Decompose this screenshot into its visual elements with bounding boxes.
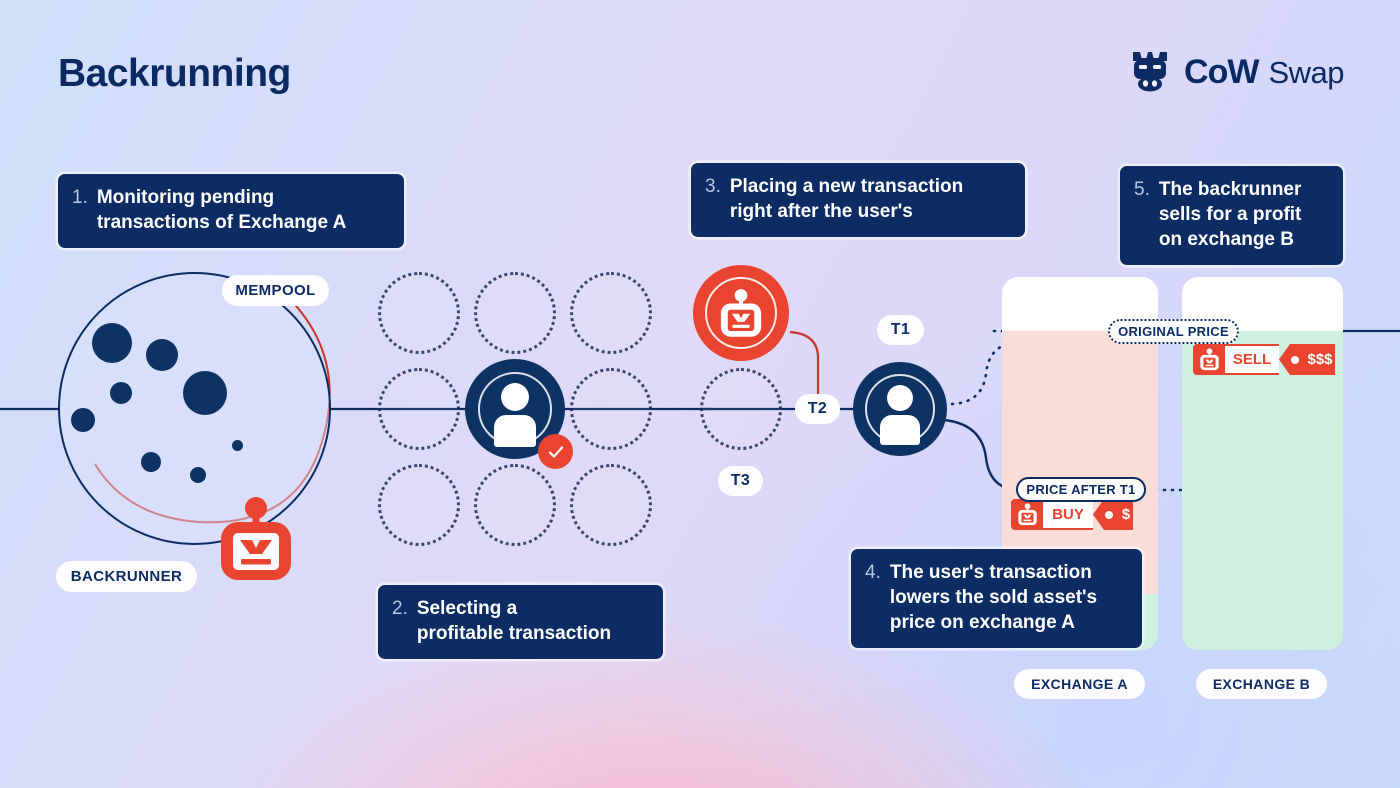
grid-slot[interactable] bbox=[378, 464, 460, 546]
price-after-t1-label: PRICE AFTER T1 bbox=[1016, 477, 1146, 502]
t3-label: T3 bbox=[718, 466, 763, 496]
backrunner-label: BACKRUNNER bbox=[56, 561, 197, 592]
page-title: Backrunning bbox=[58, 52, 291, 96]
step-2-box: 2. Selecting a profitable transaction bbox=[378, 585, 663, 659]
grid-slot[interactable] bbox=[378, 272, 460, 354]
mempool-label: MEMPOOL bbox=[222, 275, 329, 306]
step-4-text: The user's transaction lowers the sold a… bbox=[890, 560, 1097, 635]
sell-action-label: SELL bbox=[1225, 344, 1279, 375]
buy-trade-tag[interactable]: BUY $ bbox=[1011, 499, 1133, 530]
step-4-number: 4. bbox=[865, 560, 881, 585]
robot-icon bbox=[1011, 499, 1043, 530]
grid-slot[interactable] bbox=[570, 464, 652, 546]
step-1-box: 1. Monitoring pending transactions of Ex… bbox=[58, 174, 404, 248]
robot-icon bbox=[1193, 344, 1225, 375]
brand-swap-text: Swap bbox=[1268, 55, 1344, 91]
grid-slot[interactable] bbox=[474, 464, 556, 546]
buy-price-value: $ bbox=[1122, 506, 1130, 523]
check-icon bbox=[538, 434, 573, 469]
original-price-label: ORIGINAL PRICE bbox=[1108, 319, 1239, 344]
grid-slot[interactable] bbox=[570, 272, 652, 354]
backrunner-robot-icon[interactable] bbox=[216, 497, 296, 587]
step-1-text: Monitoring pending transactions of Excha… bbox=[97, 185, 347, 235]
backrunner-transaction-node[interactable] bbox=[693, 265, 789, 361]
brand-cow-text: CoW bbox=[1184, 53, 1258, 92]
step-3-text: Placing a new transaction right after th… bbox=[730, 174, 963, 224]
step-5-box: 5. The backrunner sells for a profit on … bbox=[1120, 166, 1343, 265]
cow-head-icon bbox=[1128, 48, 1174, 97]
grid-slot[interactable] bbox=[474, 272, 556, 354]
t1-label: T1 bbox=[877, 315, 924, 345]
step-1-number: 1. bbox=[72, 185, 88, 210]
user-transaction-avatar[interactable] bbox=[853, 362, 947, 456]
sell-trade-tag[interactable]: SELL $$$ bbox=[1193, 344, 1335, 375]
buy-action-label: BUY bbox=[1043, 499, 1093, 530]
step-5-number: 5. bbox=[1134, 177, 1150, 202]
exchange-b-label: EXCHANGE B bbox=[1196, 669, 1327, 699]
sell-price-tag: $$$ bbox=[1279, 344, 1335, 375]
grid-slot-t3[interactable] bbox=[700, 368, 782, 450]
cowswap-logo: CoW Swap bbox=[1128, 48, 1344, 97]
exchange-b-region bbox=[1182, 331, 1343, 650]
sell-price-value: $$$ bbox=[1307, 351, 1332, 368]
step-5-text: The backrunner sells for a profit on exc… bbox=[1159, 177, 1302, 252]
exchange-a-label: EXCHANGE A bbox=[1014, 669, 1145, 699]
step-4-box: 4. The user's transaction lowers the sol… bbox=[851, 549, 1142, 648]
step-3-box: 3. Placing a new transaction right after… bbox=[691, 163, 1025, 237]
step-2-number: 2. bbox=[392, 596, 408, 621]
step-2-text: Selecting a profitable transaction bbox=[417, 596, 611, 646]
buy-price-tag: $ bbox=[1093, 499, 1133, 530]
t2-label: T2 bbox=[795, 394, 840, 424]
grid-slot[interactable] bbox=[570, 368, 652, 450]
step-3-number: 3. bbox=[705, 174, 721, 199]
grid-slot[interactable] bbox=[378, 368, 460, 450]
